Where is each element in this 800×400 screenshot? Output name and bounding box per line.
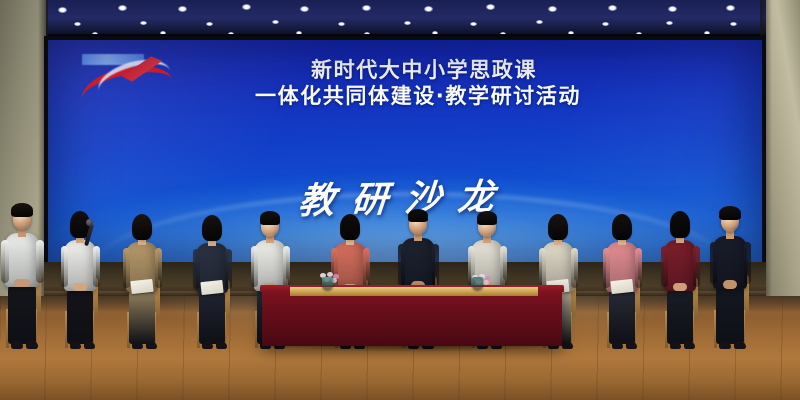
panelist-5-arm-1: [251, 246, 258, 287]
panelist-9-arm-2: [571, 248, 578, 288]
panelist-12-shoe-2: [734, 342, 746, 349]
panelist-10-shoe-2: [626, 342, 637, 349]
panelist-5-arm-2: [283, 246, 290, 287]
panelist-3-woman-tan-jacket-floral-skirt: [116, 200, 168, 350]
panelist-2-shoe-2: [84, 342, 95, 349]
ceiling-spotlight-1: [58, 7, 67, 13]
panelist-4-legs: [199, 287, 225, 344]
ceiling-spotlight-3: [178, 6, 187, 12]
panelist-12-hair: [719, 206, 740, 220]
panelist-4-hair: [202, 215, 222, 241]
panelist-4-arm-2: [225, 249, 232, 289]
panelist-1-legs: [8, 281, 36, 344]
panelist-1-shoe-2: [26, 341, 38, 349]
panelist-11-hands: [673, 283, 687, 291]
screenshot-root: 新时代大中小学思政课 一体化共同体建设·教学研讨活动 教研沙龙: [0, 0, 800, 400]
panelist-9-hair: [548, 214, 568, 240]
ceiling-spotlight-7: [424, 6, 433, 12]
panelist-10-woman-pink-jacket: [596, 200, 648, 350]
panelist-12-arm-1: [710, 242, 717, 284]
panelist-2-arm-2: [93, 246, 100, 287]
panelist-8-hair: [477, 211, 497, 224]
panelist-3-shoe-2: [146, 342, 157, 349]
panelist-4-document: [200, 280, 223, 295]
panelist-5-hair: [260, 211, 280, 224]
ceiling-spotlight-10: [608, 5, 617, 11]
panelist-10-document: [610, 279, 633, 294]
panelist-1-arm-2: [36, 240, 44, 283]
panelist-1-arm-1: [1, 240, 9, 283]
panelist-1-hands: [14, 279, 29, 288]
panelist-8-arm-2: [500, 246, 507, 287]
panelist-2-legs: [67, 285, 94, 344]
panelist-10-arm-2: [635, 248, 642, 288]
panelist-3-arm-1: [123, 248, 130, 288]
panelist-2-arm-1: [61, 246, 68, 287]
panelist-3-document: [130, 279, 153, 294]
ceiling-spotlight-6: [362, 5, 371, 11]
panelist-3-arm-2: [155, 248, 162, 288]
panelist-7-arm-1: [398, 244, 405, 286]
ceiling-spotlight-4: [242, 4, 251, 10]
panelist-2-woman-black-vest-holding-microphone: [53, 197, 106, 350]
panelist-11-shoe-1: [670, 342, 681, 349]
ceramic-cup-right: [472, 277, 483, 290]
panelist-11-legs: [667, 285, 694, 344]
ceiling-spotlight-12: [726, 5, 735, 11]
panelist-1-man-white-shirt-dark-trousers: [0, 188, 50, 350]
panelist-12-man-dark-suit-glasses: [702, 191, 757, 350]
ceiling-spotlight-9: [548, 6, 557, 12]
panelist-1-hair: [11, 203, 33, 217]
panelist-11-hair: [670, 211, 690, 238]
panelist-3-hair: [132, 214, 152, 240]
panelist-1-shoe-1: [11, 341, 23, 349]
panelist-9-arm-1: [539, 248, 546, 288]
panelist-2-hands: [73, 283, 87, 291]
panelist-11-arm-1: [661, 246, 668, 287]
panelist-6-arm-2: [363, 248, 370, 288]
panelist-11-arm-2: [693, 246, 700, 287]
ceramic-cup-left: [322, 277, 333, 290]
panelist-12-hands: [723, 280, 738, 288]
panelist-7-arm-2: [432, 244, 439, 286]
panelist-4-woman-navy-blazer: [186, 202, 237, 351]
panelist-3-shoe-1: [132, 342, 143, 349]
panelist-7-hair: [408, 209, 429, 223]
panelist-11-woman-maroon-top: [653, 197, 706, 350]
panelist-11-shoe-2: [684, 342, 695, 349]
panelist-2-shoe-1: [70, 342, 81, 349]
panelist-12-arm-2: [744, 242, 751, 284]
ceiling-spotlight-11: [668, 6, 677, 12]
panelist-12-legs: [716, 282, 744, 343]
ceiling-spotlight-5: [300, 6, 309, 12]
panelist-10-hair: [612, 214, 632, 240]
panelist-4-shoe-2: [216, 342, 227, 349]
ceiling-spotlight-2: [118, 5, 127, 11]
ceiling-spotlight-8: [486, 4, 495, 10]
panelist-12-shoe-1: [719, 342, 731, 349]
panelist-6-hair: [340, 214, 360, 240]
conference-table: [262, 288, 562, 346]
panelist-10-legs: [609, 286, 635, 344]
panelist-4-shoe-1: [202, 342, 213, 349]
panelist-10-shoe-1: [612, 342, 623, 349]
panelist-10-arm-1: [603, 248, 610, 288]
panelist-3-legs: [129, 286, 155, 344]
panelist-4-arm-1: [193, 249, 200, 289]
